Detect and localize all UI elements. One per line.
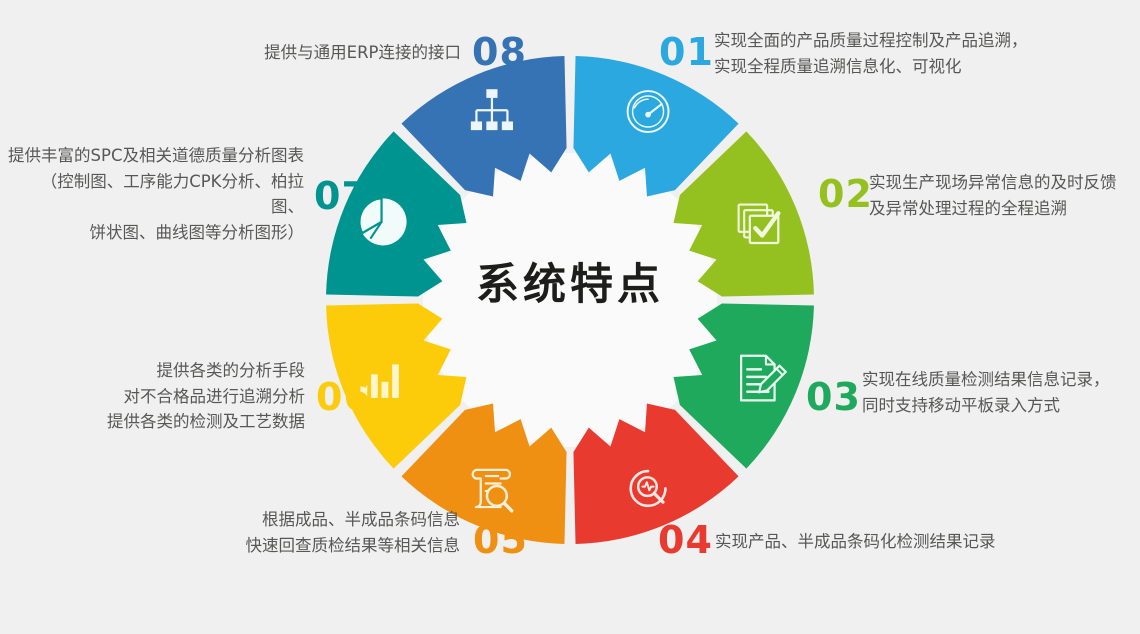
segment-text-04: 实现产品、半成品条码化检测结果记录 — [715, 529, 1055, 555]
segment-number-05: 05 — [473, 521, 528, 559]
segment-number-04: 04 — [658, 521, 713, 559]
segment-number-01: 01 — [659, 33, 714, 71]
segment-text-06: 提供各类的分析手段 对不合格品进行追溯分析 提供各类的检测及工艺数据 — [35, 358, 305, 435]
segment-text-03: 实现在线质量检测结果信息记录， 同时支持移动平板录入方式 — [862, 367, 1140, 418]
segment-text-07: 提供丰富的SPC及相关道德质量分析图表 （控制图、工序能力CPK分析、柏拉图、 … — [8, 143, 304, 245]
segment-number-03: 03 — [806, 378, 861, 416]
segment-text-02: 实现生产现场异常信息的及时反馈 及异常处理过程的全程追溯 — [869, 170, 1139, 221]
segment-text-01: 实现全面的产品质量过程控制及产品追溯， 实现全程质量追溯信息化、可视化 — [714, 28, 1044, 79]
segment-number-07: 07 — [314, 177, 369, 215]
segment-text-08: 提供与通用ERP连接的接口 — [185, 40, 461, 66]
segment-number-06: 06 — [316, 378, 371, 416]
infographic-canvas: 系统特点 01 实现全面的产品质量过程控制及产品追溯， 实现全程质量追溯信息化、… — [0, 0, 1140, 634]
segment-number-08: 08 — [472, 33, 527, 71]
segment-number-02: 02 — [818, 175, 873, 213]
segment-text-05: 根据成品、半成品条码信息 快速回查质检结果等相关信息 — [190, 507, 460, 558]
center-title: 系统特点 — [430, 262, 710, 309]
checklist-documents-icon — [739, 205, 779, 243]
